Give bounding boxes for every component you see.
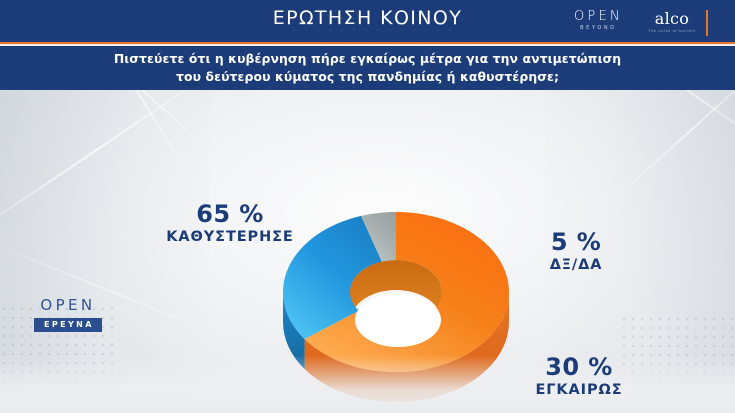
callout-egkairos-value: 30 % [495, 355, 663, 380]
background-shade-left [0, 90, 210, 413]
question-line-1: Πιστεύετε ότι η κυβέρνηση πήρε εγκαίρως … [114, 51, 621, 66]
page-title: ΕΡΩΤΗΣΗ ΚΟΙΝΟΥ [0, 7, 735, 29]
callout-kathysterise-label: ΚΑΘΥΣΤΕΡΗΣΕ [146, 230, 314, 245]
question-band: Πιστεύετε ότι η κυβέρνηση πήρε εγκαίρως … [0, 46, 735, 90]
background-facet [528, 90, 735, 164]
alco-logo-main: alco [648, 11, 696, 27]
callout-dk-dn: 5 % ΔΞ/ΔΑ [509, 230, 643, 274]
donut-hole-cap [355, 293, 441, 347]
alco-logo-sub: The pulse of society [648, 30, 696, 34]
header-bar: ΕΡΩΤΗΣΗ ΚΟΙΝΟΥ OPEN BEYOND alco The puls… [0, 0, 735, 44]
donut-chart [281, 194, 511, 413]
question-text: Πιστεύετε ότι η κυβέρνηση πήρε εγκαίρως … [59, 50, 676, 85]
open-erevna-main: OPEN [34, 298, 102, 313]
background-facet [593, 90, 735, 218]
open-erevna-badge: ΕΡΕΥΝΑ [34, 318, 102, 332]
chart-stage: OPEN ΕΡΕΥΝΑ 65 % ΚΑΘΥΣΤΕΡΗΣΕ 5 % ΔΞ/ΔΑ 3… [0, 90, 735, 413]
question-line-2: του δεύτερου κύματος της πανδημίας ή καθ… [176, 69, 559, 84]
open-beyond-logo: OPEN BEYOND [574, 10, 623, 31]
open-beyond-logo-sub: BEYOND [574, 26, 623, 31]
callout-dk-dn-label: ΔΞ/ΔΑ [509, 258, 643, 273]
alco-logo: alco The pulse of society [648, 11, 696, 34]
callout-kathysterise: 65 % ΚΑΘΥΣΤΕΡΗΣΕ [146, 202, 314, 246]
open-beyond-logo-main: OPEN [574, 10, 623, 23]
logo-divider [706, 10, 708, 36]
callout-kathysterise-value: 65 % [146, 202, 314, 227]
background-facet [0, 90, 222, 162]
callout-dk-dn-value: 5 % [509, 230, 643, 255]
callout-egkairos-label: ΕΓΚΑΙΡΩΣ [495, 383, 663, 398]
background-facet [76, 90, 205, 198]
callout-egkairos: 30 % ΕΓΚΑΙΡΩΣ [495, 355, 663, 399]
donut-chart-svg [281, 194, 511, 413]
poll-result-slide: ΕΡΩΤΗΣΗ ΚΟΙΝΟΥ OPEN BEYOND alco The puls… [0, 0, 735, 413]
open-erevna-watermark: OPEN ΕΡΕΥΝΑ [34, 298, 102, 332]
